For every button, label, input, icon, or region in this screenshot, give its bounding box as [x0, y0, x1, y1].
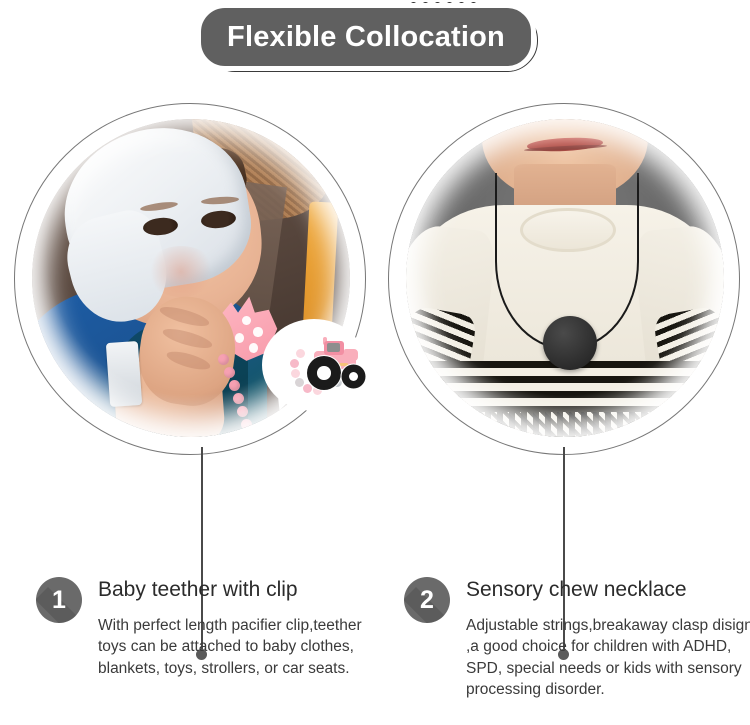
number-badge-2: 2: [404, 577, 450, 623]
badge-bubble-tractor: [262, 319, 366, 411]
feature-body-1: With perfect length pacifier clip,teethe…: [98, 615, 388, 679]
page-title: Flexible Collocation: [227, 23, 505, 52]
panel-2: [378, 97, 750, 477]
number-badge-label: 1: [52, 588, 66, 613]
number-badge-label: 2: [420, 588, 434, 613]
tractor-teether-icon: [290, 337, 362, 389]
panel-1: [4, 97, 376, 477]
infographic-canvas: Flexible Collocation: [0, 0, 750, 725]
feature-title-2: Sensory chew necklace: [466, 577, 687, 602]
feature-body-2: Adjustable strings,breakaway clasp disig…: [466, 615, 750, 701]
title-pill: Flexible Collocation: [196, 3, 536, 71]
number-badge-1: 1: [36, 577, 82, 623]
feature-title-1: Baby teether with clip: [98, 577, 298, 602]
photo-chew-necklace: [406, 119, 724, 437]
